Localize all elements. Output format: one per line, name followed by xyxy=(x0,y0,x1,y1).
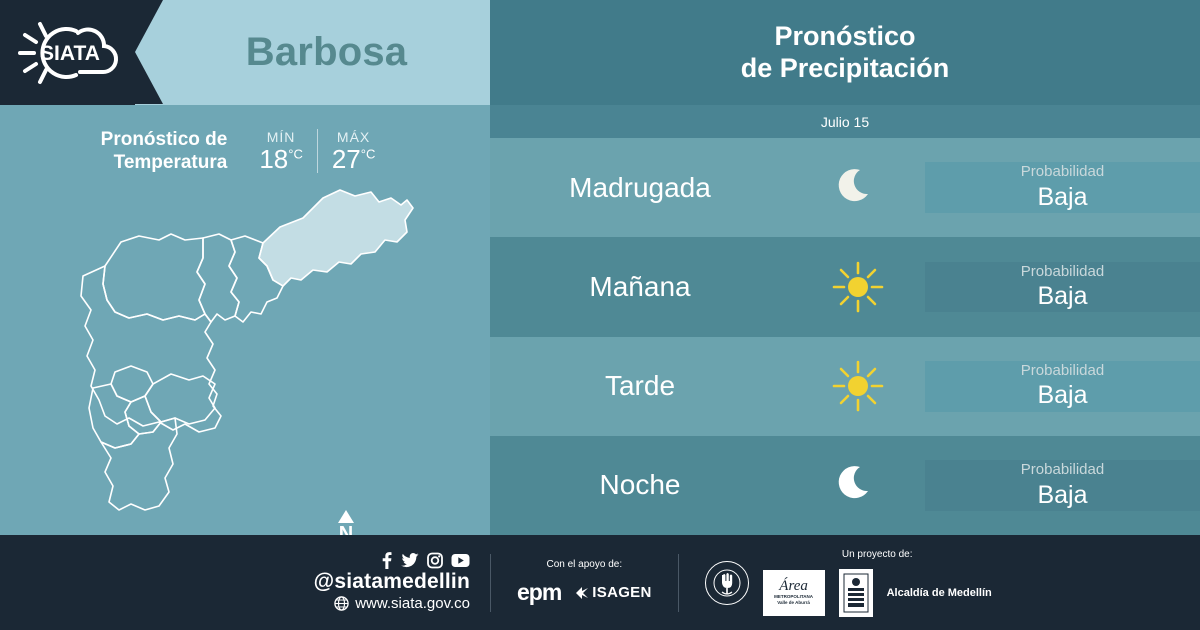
map-region-barbosa xyxy=(259,190,413,286)
sun-icon xyxy=(830,259,886,315)
min-number: 18 xyxy=(259,144,288,174)
probability-value: Baja xyxy=(1037,380,1087,411)
moon-icon xyxy=(834,461,882,509)
alcaldia-label: Alcaldía de Medellín xyxy=(887,587,992,599)
amva-sub-line2: Valle de Aburrá xyxy=(777,600,810,605)
top-band: SIATA Barbosa Pronóstico de Precipitació… xyxy=(0,0,1200,105)
precipitation-title-line1: Pronóstico xyxy=(774,21,915,51)
support-logos: epm ISAGEN xyxy=(517,579,652,606)
period-label: Mañana xyxy=(490,271,790,303)
temperature-max: MÁX 27°C xyxy=(317,129,390,173)
siata-logo-block: SIATA xyxy=(0,0,135,105)
probability-cell: Probabilidad Baja xyxy=(925,162,1200,213)
table-row[interactable]: Madrugada Probabilidad Baja xyxy=(490,138,1200,237)
temperature-max-label: MÁX xyxy=(337,129,370,145)
city-header: SIATA Barbosa xyxy=(0,0,490,105)
map-region-la-estrella xyxy=(89,384,139,448)
max-unit: °C xyxy=(361,146,376,161)
amva-name: Área xyxy=(779,579,808,594)
weather-icon-cell xyxy=(790,461,925,509)
probability-value: Baja xyxy=(1037,182,1087,213)
precipitation-header: Pronóstico de Precipitación xyxy=(490,0,1200,105)
precipitation-forecast-table: Julio 15 Madrugada Probabilidad Baja Mañ… xyxy=(490,105,1200,535)
map-region-medellin xyxy=(81,266,221,432)
isagen-text: ISAGEN xyxy=(592,584,651,601)
sun-icon xyxy=(830,358,886,414)
period-label: Madrugada xyxy=(490,172,790,204)
temperature-min-value: 18°C xyxy=(259,145,303,173)
isagen-mark-icon xyxy=(575,586,589,600)
amva-column: Un proyecto de: Área METROPOLITANA Valle… xyxy=(763,549,992,617)
globe-icon xyxy=(334,596,349,611)
period-label: Noche xyxy=(490,469,790,501)
probability-caption: Probabilidad xyxy=(1021,460,1104,480)
temperature-header: Pronóstico de Temperatura MÍN 18°C MÁX 2… xyxy=(0,120,490,182)
north-arrow-icon xyxy=(338,510,354,523)
project-block: Un proyecto de: Área METROPOLITANA Valle… xyxy=(679,549,992,617)
amva-subtitle: METROPOLITANA Valle de Aburrá xyxy=(774,594,813,605)
map-region-bello xyxy=(103,234,205,320)
temperature-title: Pronóstico de Temperatura xyxy=(101,128,228,174)
instagram-icon[interactable] xyxy=(427,552,443,569)
footer: @siatamedellin www.siata.gov.co Con el a… xyxy=(0,535,1200,630)
probability-cell: Probabilidad Baja xyxy=(925,361,1200,412)
temperature-min-label: MÍN xyxy=(267,129,296,145)
isagen-logo: ISAGEN xyxy=(575,584,651,601)
twitter-icon[interactable] xyxy=(401,552,419,569)
table-row[interactable]: Mañana xyxy=(490,237,1200,336)
probability-value: Baja xyxy=(1037,480,1087,511)
temperature-max-value: 27°C xyxy=(332,145,376,173)
alcaldia-crest-icon xyxy=(839,569,873,617)
temperature-title-line1: Pronóstico de xyxy=(101,129,228,150)
temperature-values: MÍN 18°C MÁX 27°C xyxy=(245,129,389,173)
website-url: www.siata.gov.co xyxy=(355,594,470,614)
weather-icon-cell xyxy=(790,358,925,414)
facebook-icon[interactable] xyxy=(380,552,393,569)
area-metropolitana-logo: Área METROPOLITANA Valle de Aburrá xyxy=(763,570,825,616)
moon-icon xyxy=(834,164,882,212)
probability-caption: Probabilidad xyxy=(1021,162,1104,182)
map-svg xyxy=(55,180,445,530)
social-handle[interactable]: @siatamedellin xyxy=(314,570,470,594)
siata-logo-text: SIATA xyxy=(40,42,100,65)
max-number: 27 xyxy=(332,144,361,174)
temperature-title-line2: Temperatura xyxy=(114,152,228,173)
seal-inner-icon xyxy=(710,566,744,600)
weather-forecast-poster: SIATA Barbosa Pronóstico de Precipitació… xyxy=(0,0,1200,630)
precipitation-title: Pronóstico de Precipitación xyxy=(741,21,950,84)
support-block: Con el apoyo de: epm ISAGEN xyxy=(491,559,678,606)
youtube-icon[interactable] xyxy=(451,552,470,569)
map-region-caldas xyxy=(101,418,177,510)
probability-caption: Probabilidad xyxy=(1021,361,1104,381)
temperature-min: MÍN 18°C xyxy=(245,129,317,173)
social-block: @siatamedellin www.siata.gov.co xyxy=(0,552,490,614)
amva-sub-line1: METROPOLITANA xyxy=(774,594,813,599)
probability-caption: Probabilidad xyxy=(1021,262,1104,282)
city-title: Barbosa xyxy=(163,0,490,105)
min-unit: °C xyxy=(288,146,303,161)
temperature-panel: Pronóstico de Temperatura MÍN 18°C MÁX 2… xyxy=(0,105,490,535)
probability-value: Baja xyxy=(1037,281,1087,312)
support-caption: Con el apoyo de: xyxy=(546,559,622,570)
weather-icon-cell xyxy=(790,164,925,212)
forecast-date: Julio 15 xyxy=(490,105,1200,138)
forecast-rows: Madrugada Probabilidad Baja Mañana xyxy=(490,138,1200,535)
table-row[interactable]: Noche Probabilidad Baja xyxy=(490,436,1200,535)
social-icons xyxy=(380,552,470,569)
logo-chevron xyxy=(135,0,163,104)
probability-cell: Probabilidad Baja xyxy=(925,262,1200,313)
project-caption: Un proyecto de: xyxy=(842,549,913,560)
sun-cloud-icon: SIATA xyxy=(14,18,126,88)
weather-icon-cell xyxy=(790,259,925,315)
universidad-seal-icon xyxy=(705,561,749,605)
website-row[interactable]: www.siata.gov.co xyxy=(334,594,470,614)
precipitation-title-line2: de Precipitación xyxy=(741,53,950,83)
table-row[interactable]: Tarde xyxy=(490,337,1200,436)
period-label: Tarde xyxy=(490,370,790,402)
alcaldia-crest-inner xyxy=(843,573,869,613)
probability-cell: Probabilidad Baja xyxy=(925,460,1200,511)
project-logos: Área METROPOLITANA Valle de Aburrá xyxy=(763,569,992,617)
valle-de-aburra-map: N xyxy=(55,180,445,530)
epm-logo: epm xyxy=(517,579,561,606)
